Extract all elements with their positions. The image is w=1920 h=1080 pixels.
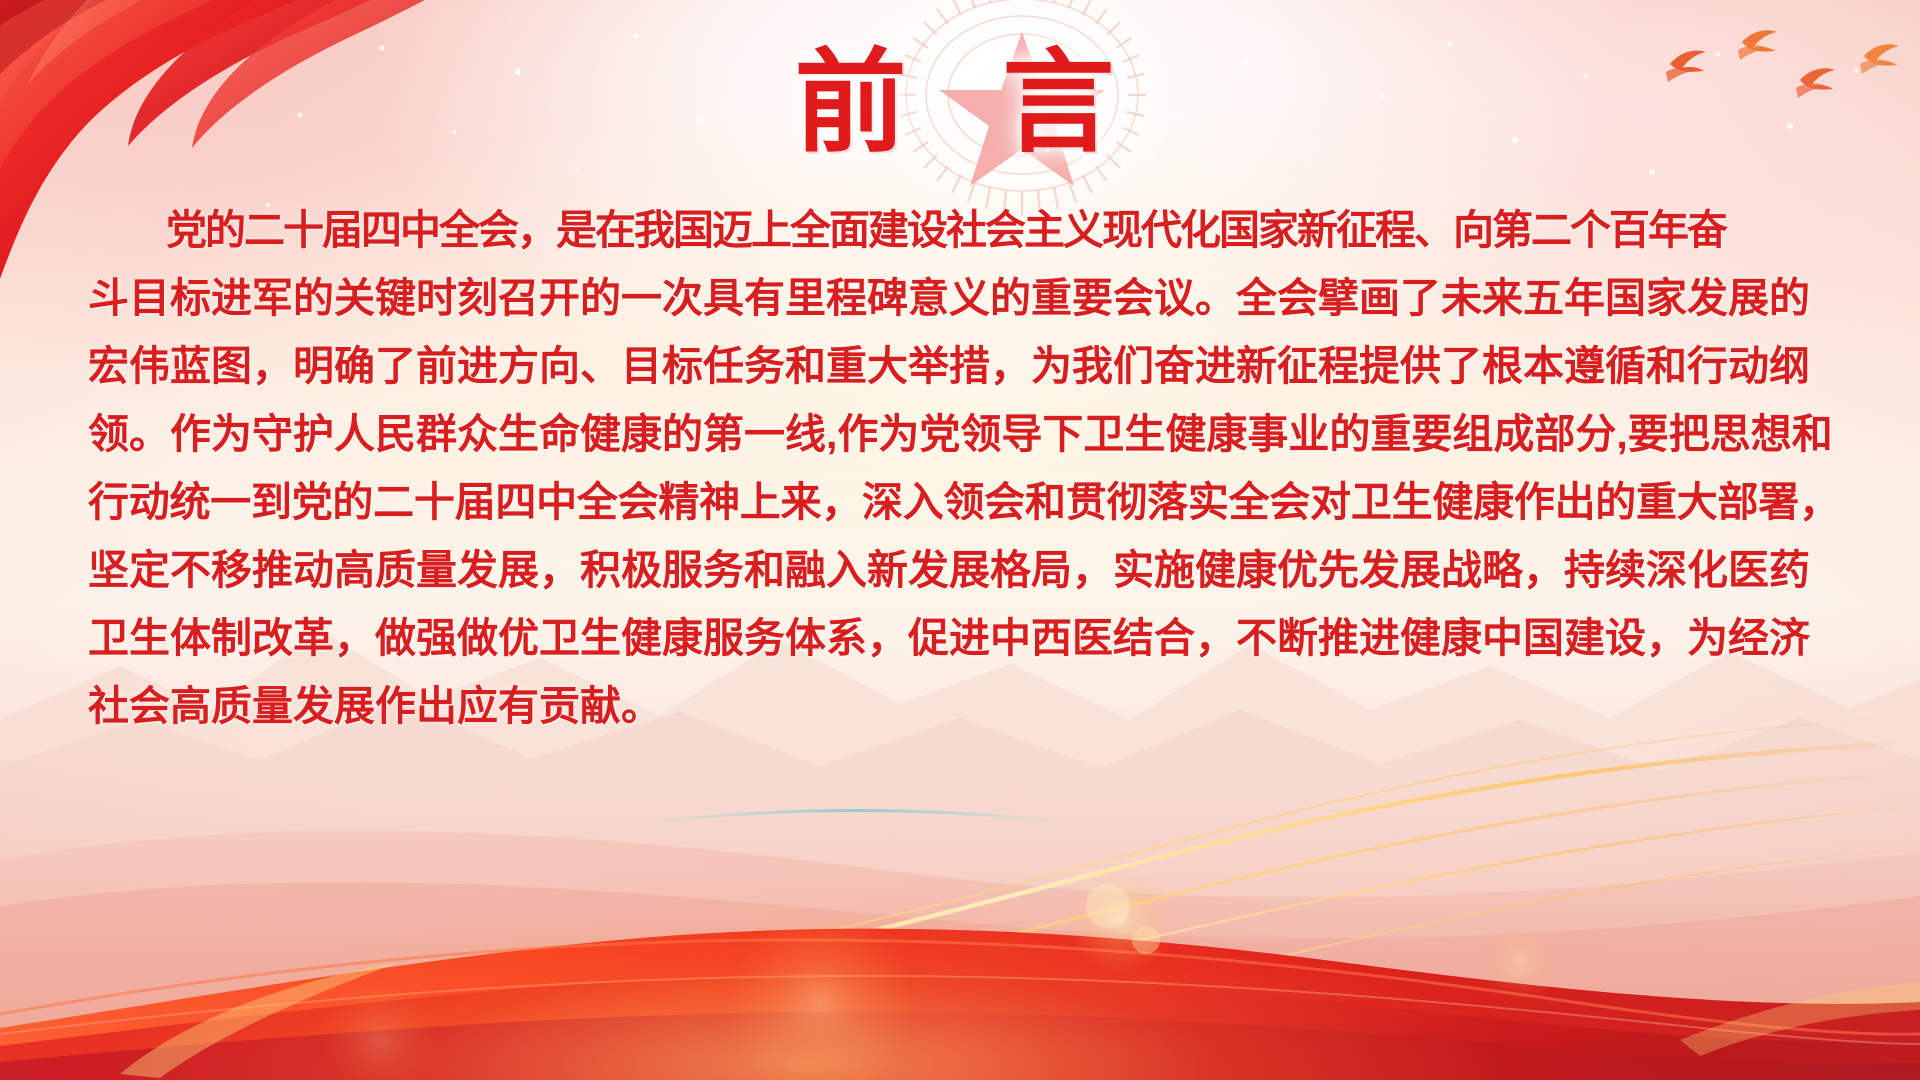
- body-line: 社会高质量发展作出应有贡献。: [88, 672, 1840, 740]
- body-line: 卫生体制改革，做强做优卫生健康服务体系，促进中西医结合，不断推进健康中国建设，为…: [88, 604, 1840, 672]
- body-line: 党的二十届四中全会，是在我国迈上全面建设社会主义现代化国家新征程、向第二个百年奋: [88, 196, 1840, 264]
- preface-body-text: 党的二十届四中全会，是在我国迈上全面建设社会主义现代化国家新征程、向第二个百年奋…: [88, 196, 1840, 740]
- body-line: 行动统一到党的二十届四中全会精神上来，深入领会和贯彻落实全会对卫生健康作出的重大…: [88, 468, 1840, 536]
- slide-canvas: 前 言 党的二十届四中全会，是在我国迈上全面建设社会主义现代化国家新征程、向第二…: [0, 0, 1920, 1080]
- body-line: 领。作为守护人民群众生命健康的第一线,作为党领导下卫生健康事业的重要组成部分,要…: [88, 400, 1840, 468]
- body-line: 坚定不移推动高质量发展，积极服务和融入新发展格局，实施健康优先发展战略，持续深化…: [88, 536, 1840, 604]
- page-title: 前 言: [0, 44, 1920, 162]
- body-line: 斗目标进军的关键时刻召开的一次具有里程碑意义的重要会议。全会擘画了未来五年国家发…: [88, 264, 1840, 332]
- body-line: 宏伟蓝图，明确了前进方向、目标任务和重大举措，为我们奋进新征程提供了根本遵循和行…: [88, 332, 1840, 400]
